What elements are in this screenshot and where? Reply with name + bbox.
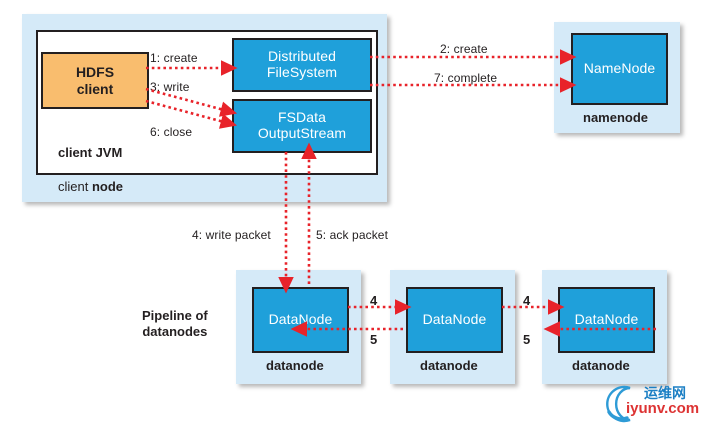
datanode-2-label: DataNode (423, 312, 487, 328)
step-5-b-number: 5 (523, 332, 530, 347)
step-6-close-label: 6: close (150, 125, 192, 139)
pipeline-of-datanodes-label: Pipeline of datanodes (142, 308, 208, 339)
step-3-write-label: 3: write (150, 80, 189, 94)
fsdata-outputstream-line1: FSData (278, 109, 326, 125)
fsdata-outputstream-box[interactable]: FSData OutputStream (232, 99, 372, 153)
datanode-2-box[interactable]: DataNode (406, 287, 503, 353)
namenode-box[interactable]: NameNode (571, 33, 668, 105)
watermark-url-text: iyunv.com (626, 400, 699, 417)
step-1-create-label: 1: create (150, 51, 198, 65)
datanode-1-caption: datanode (266, 358, 324, 373)
datanode-3-box[interactable]: DataNode (558, 287, 655, 353)
hdfs-client-box[interactable]: HDFS client (41, 52, 149, 109)
step-4-a-number: 4 (370, 293, 377, 308)
namenode-caption: namenode (583, 110, 648, 125)
client-node-caption-bold: node (92, 179, 123, 194)
distributed-filesystem-label: Distributed FileSystem (267, 49, 337, 80)
hdfs-client-label: HDFS client (76, 64, 114, 96)
step-5-a-number: 5 (370, 332, 377, 347)
datanode-2-caption: datanode (420, 358, 478, 373)
datanode-1-box[interactable]: DataNode (252, 287, 349, 353)
namenode-label: NameNode (584, 61, 656, 77)
pipeline-label-line2: datanodes (142, 324, 207, 339)
distributed-filesystem-line1: Distributed (268, 48, 336, 64)
client-node-caption: client node (58, 179, 123, 194)
fsdata-outputstream-label: FSData OutputStream (258, 110, 346, 141)
hdfs-client-label-line2: client (77, 81, 114, 97)
client-node-caption-light: client (58, 179, 92, 194)
fsdata-outputstream-line2: OutputStream (258, 125, 346, 141)
datanode-3-label: DataNode (575, 312, 639, 328)
watermark: 运维网 iyunv.com (600, 382, 698, 424)
hdfs-client-label-line1: HDFS (76, 64, 114, 80)
step-5-ack-packet-label: 5: ack packet (316, 228, 388, 242)
distributed-filesystem-box[interactable]: Distributed FileSystem (232, 38, 372, 92)
step-7-complete-label: 7: complete (434, 71, 497, 85)
pipeline-label-line1: Pipeline of (142, 308, 208, 323)
step-4-b-number: 4 (523, 293, 530, 308)
distributed-filesystem-line2: FileSystem (267, 64, 337, 80)
step-4-write-packet-label: 4: write packet (192, 228, 271, 242)
datanode-3-caption: datanode (572, 358, 630, 373)
diagram-canvas: client JVM client node HDFS client Distr… (0, 0, 701, 430)
step-2-create-label: 2: create (440, 42, 488, 56)
client-jvm-label: client JVM (58, 145, 122, 160)
datanode-1-label: DataNode (269, 312, 333, 328)
